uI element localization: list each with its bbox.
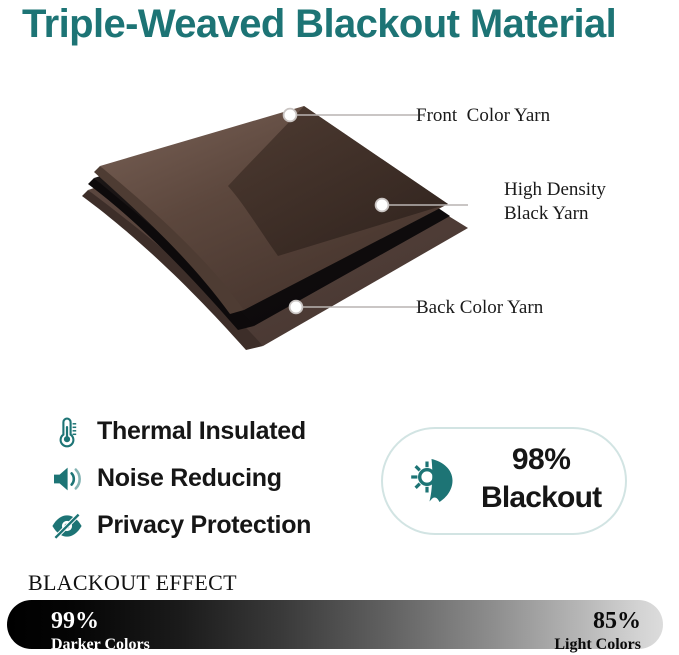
- light-colors-percent: 85%: [554, 609, 641, 633]
- feature-item-thermal-insulated: Thermal Insulated: [48, 408, 368, 455]
- callout-label-line2: Black Yarn: [504, 203, 588, 224]
- badge-percent-value: 98%: [512, 443, 571, 476]
- speaker-icon: [48, 460, 86, 498]
- callout-label-back-color-yarn: Back Color Yarn: [416, 296, 543, 320]
- blackout-effect-gradient-bar: 99% Darker Colors 85% Light Colors: [7, 600, 663, 649]
- blackout-badge: 98% Blackout: [381, 427, 627, 535]
- fabric-layer-front: [94, 106, 448, 314]
- sun-behind-curtain-icon: [405, 450, 467, 512]
- callout-label-line1: High Density: [504, 179, 606, 200]
- gradient-bar-darker-colors: 99% Darker Colors: [51, 609, 150, 653]
- darker-colors-percent: 99%: [51, 609, 150, 633]
- gradient-bar-light-colors: 85% Light Colors: [554, 609, 641, 653]
- page-title: Triple-Weaved Blackout Material: [22, 0, 662, 50]
- fabric-layers-diagram: [78, 78, 468, 363]
- feature-label-noise-reducing: Noise Reducing: [97, 464, 282, 493]
- callout-label-high-density-black-yarn: High DensityBlack Yarn: [504, 178, 606, 226]
- thermometer-icon: [48, 413, 86, 451]
- blackout-effect-heading: BLACKOUT EFFECT: [28, 570, 237, 596]
- badge-text: 98% Blackout: [481, 443, 601, 519]
- callout-label-front-color-yarn: Front Color Yarn: [416, 104, 550, 128]
- badge-word-label: Blackout: [481, 481, 601, 514]
- light-colors-caption: Light Colors: [554, 637, 641, 653]
- feature-label-privacy-protection: Privacy Protection: [97, 511, 311, 540]
- feature-item-privacy-protection: Privacy Protection: [48, 502, 368, 549]
- feature-item-noise-reducing: Noise Reducing: [48, 455, 368, 502]
- feature-list: Thermal Insulated Noise Reducing Privacy…: [48, 408, 368, 549]
- feature-label-thermal-insulated: Thermal Insulated: [97, 417, 306, 446]
- eye-slash-icon: [48, 507, 86, 545]
- darker-colors-caption: Darker Colors: [51, 637, 150, 653]
